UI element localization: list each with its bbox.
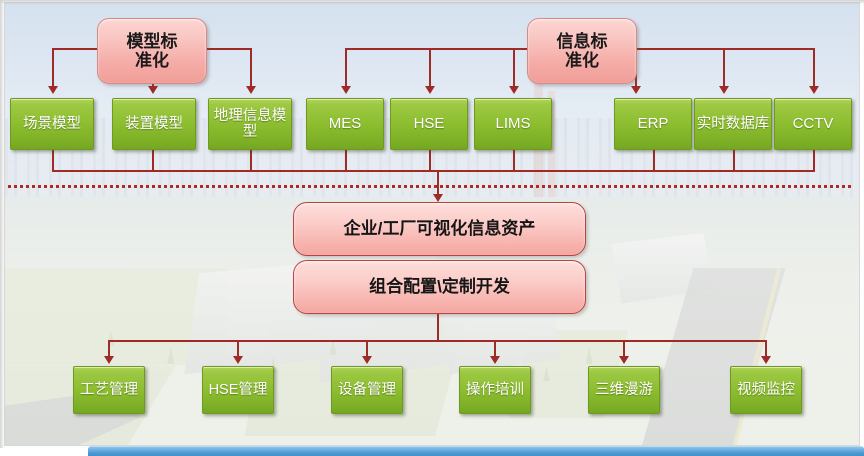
node-label: 操作培训 bbox=[466, 382, 524, 398]
arrow-to-lims bbox=[509, 86, 519, 94]
connector-model-drop-left bbox=[52, 48, 54, 86]
connector-scene-to-bus bbox=[52, 150, 54, 172]
arrow-to-hse bbox=[425, 86, 435, 94]
node-information-standardization[interactable]: 信息标准化 bbox=[527, 18, 637, 84]
node-label: LIMS bbox=[495, 116, 530, 133]
node-label: 模型标准化 bbox=[127, 32, 178, 70]
arrow-to-operation-training bbox=[490, 356, 500, 364]
connector-hse-to-bus bbox=[429, 150, 431, 172]
node-label: MES bbox=[329, 116, 362, 133]
arrow-to-cctv bbox=[809, 86, 819, 94]
node-label: CCTV bbox=[793, 116, 834, 133]
node-model-standardization[interactable]: 模型标准化 bbox=[97, 18, 207, 84]
arrow-to-scene-model bbox=[48, 86, 58, 94]
node-erp[interactable]: ERP bbox=[614, 98, 692, 150]
node-composite-config-custom-dev[interactable]: 组合配置\定制开发 bbox=[293, 260, 586, 314]
node-label: 企业/工厂可视化信息资产 bbox=[344, 219, 536, 238]
connector-drop-training bbox=[494, 340, 496, 356]
arrow-to-mes bbox=[341, 86, 351, 94]
connector-drop-hse-mgmt bbox=[237, 340, 239, 356]
node-label: 场景模型 bbox=[23, 116, 81, 132]
arrow-to-device-model bbox=[148, 86, 158, 94]
node-lims[interactable]: LIMS bbox=[474, 98, 552, 150]
node-label: HSE bbox=[414, 116, 445, 133]
connector-model-drop-right bbox=[250, 48, 252, 86]
node-label: 装置模型 bbox=[125, 116, 183, 132]
connector-hse-drop bbox=[429, 48, 431, 86]
node-label: 实时数据库 bbox=[697, 116, 770, 132]
connector-bus-to-platform bbox=[437, 170, 439, 196]
connector-drop-equipment bbox=[366, 340, 368, 356]
connector-drop-cctv-app bbox=[765, 340, 767, 356]
node-3d-roaming[interactable]: 三维漫游 bbox=[588, 366, 660, 414]
node-label: 视频监控 bbox=[737, 382, 795, 398]
arrow-to-equipment-management bbox=[362, 356, 372, 364]
connector-lims-to-bus bbox=[513, 150, 515, 172]
connector-geo-to-bus bbox=[250, 150, 252, 172]
node-scene-model[interactable]: 场景模型 bbox=[10, 98, 94, 150]
connector-info-left-bus bbox=[345, 48, 529, 50]
node-label: 地理信息模型 bbox=[209, 108, 291, 140]
node-equipment-management[interactable]: 设备管理 bbox=[331, 366, 403, 414]
connector-erp-to-bus bbox=[653, 150, 655, 172]
node-cctv[interactable]: CCTV bbox=[774, 98, 852, 150]
dotted-divider bbox=[8, 185, 854, 188]
connector-rtdb-drop bbox=[723, 48, 725, 86]
arrow-to-realtime-db bbox=[719, 86, 729, 94]
node-process-management[interactable]: 工艺管理 bbox=[73, 366, 145, 414]
node-visual-information-assets[interactable]: 企业/工厂可视化信息资产 bbox=[293, 202, 586, 256]
connector-drop-process bbox=[108, 340, 110, 356]
connector-drop-roaming bbox=[623, 340, 625, 356]
connector-platform-collector-bus bbox=[52, 170, 815, 172]
arrow-to-video-surveillance bbox=[761, 356, 771, 364]
node-realtime-database[interactable]: 实时数据库 bbox=[694, 98, 772, 150]
node-hse[interactable]: HSE bbox=[390, 98, 468, 150]
node-geo-info-model[interactable]: 地理信息模型 bbox=[208, 98, 292, 150]
connector-lims-drop bbox=[513, 48, 515, 86]
node-label: 工艺管理 bbox=[80, 382, 138, 398]
node-mes[interactable]: MES bbox=[306, 98, 384, 150]
connector-applications-bus bbox=[108, 340, 766, 342]
connector-rtdb-to-bus bbox=[733, 150, 735, 172]
node-video-surveillance[interactable]: 视频监控 bbox=[730, 366, 802, 414]
connector-cctv-to-bus bbox=[813, 150, 815, 172]
connector-cctv-drop bbox=[813, 48, 815, 86]
arrow-to-geo-model bbox=[246, 86, 256, 94]
connector-info-right-bus bbox=[635, 48, 815, 50]
connector-platform-to-apps bbox=[437, 314, 439, 341]
bottom-blue-bar bbox=[88, 446, 864, 456]
node-label: 设备管理 bbox=[338, 382, 396, 398]
diagram-canvas: 模型标准化 信息标准化 场景模型 装置模型 地理信息模型 MES HSE LIM… bbox=[0, 0, 864, 456]
node-operation-training[interactable]: 操作培训 bbox=[459, 366, 531, 414]
arrow-to-process-management bbox=[104, 356, 114, 364]
node-label: 信息标准化 bbox=[557, 32, 608, 70]
node-device-model[interactable]: 装置模型 bbox=[112, 98, 196, 150]
connector-device-to-bus bbox=[152, 150, 154, 172]
arrow-to-platform bbox=[433, 194, 443, 202]
node-label: 组合配置\定制开发 bbox=[369, 277, 510, 296]
node-label: HSE管理 bbox=[209, 382, 268, 398]
node-hse-management[interactable]: HSE管理 bbox=[202, 366, 274, 414]
connector-mes-to-bus bbox=[345, 150, 347, 172]
node-label: 三维漫游 bbox=[595, 382, 653, 398]
arrow-to-hse-management bbox=[233, 356, 243, 364]
connector-mes-drop bbox=[345, 48, 347, 86]
arrow-to-3d-roaming bbox=[619, 356, 629, 364]
node-label: ERP bbox=[638, 116, 669, 133]
arrow-to-erp bbox=[631, 86, 641, 94]
